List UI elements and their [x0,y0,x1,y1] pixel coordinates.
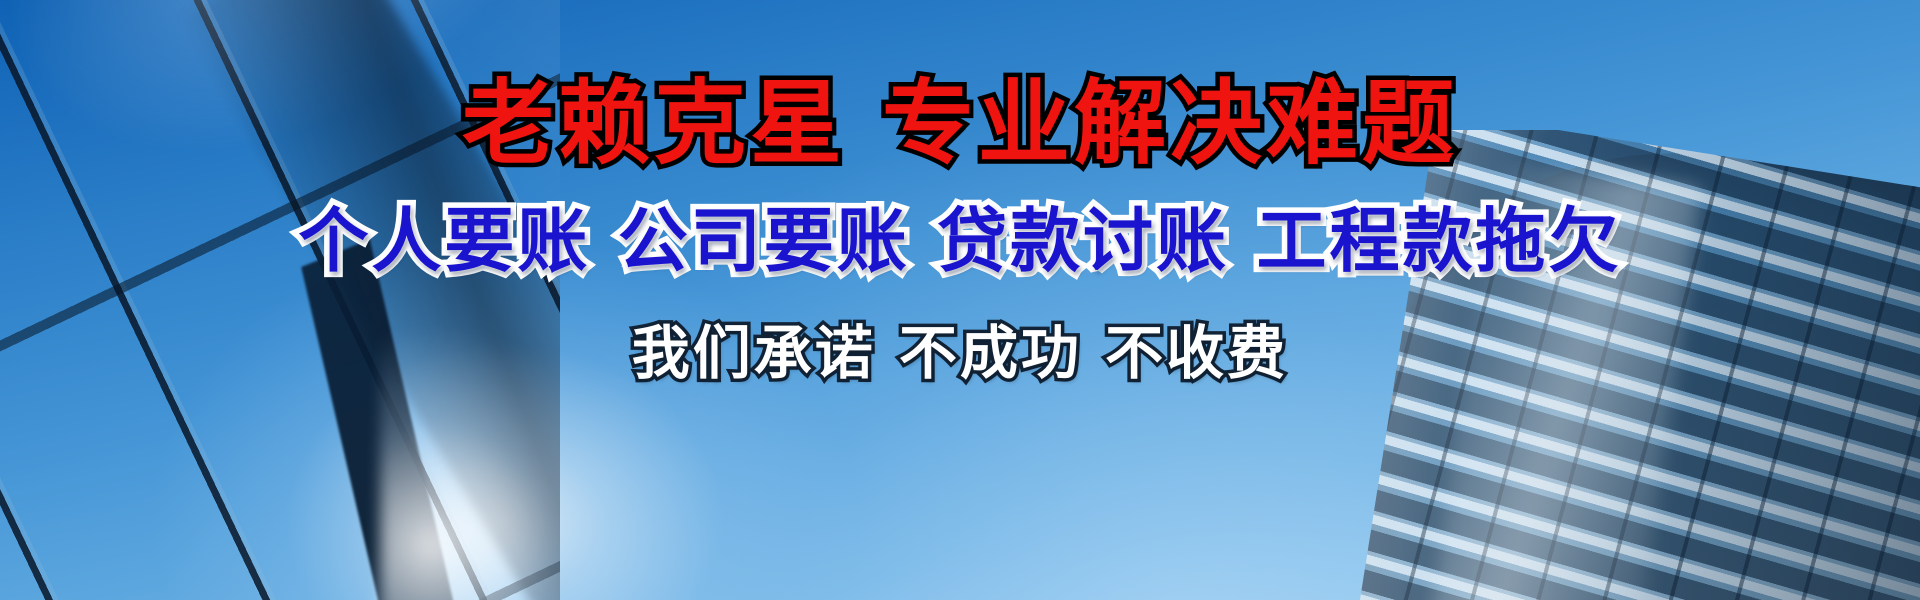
banner-service-list: 个人要账 公司要账 贷款讨账 工程款拖欠 [298,206,1621,276]
banner-copy: 老赖克星 专业解决难题 个人要账 公司要账 贷款讨账 工程款拖欠 我们承诺 不成… [0,0,1920,600]
banner-headline: 老赖克星 专业解决难题 [462,78,1458,170]
banner-promise: 我们承诺 不成功 不收费 [632,324,1288,382]
promotional-banner: 老赖克星 专业解决难题 个人要账 公司要账 贷款讨账 工程款拖欠 我们承诺 不成… [0,0,1920,600]
